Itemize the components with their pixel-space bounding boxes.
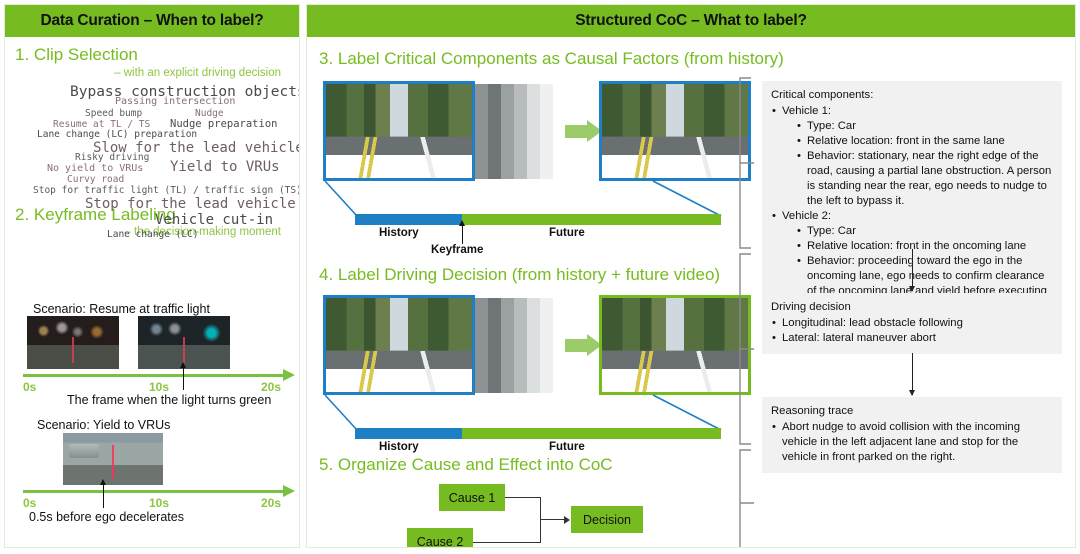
filmstrip-frame <box>475 298 488 393</box>
scenario-b-keyframe-marker <box>103 484 104 508</box>
filmstrip-frame <box>501 298 514 393</box>
scenario-b-thumbnail <box>63 433 163 485</box>
section-4-history-frame <box>323 295 475 395</box>
word-cloud-term-1: Passing intersection <box>115 97 235 107</box>
filmstrip-frame <box>501 84 514 179</box>
timeline-arrowhead-icon <box>283 485 295 497</box>
driving-decision-list: Longitudinal: lead obstacle followingLat… <box>771 316 1053 346</box>
word-cloud-term-15: Lane change (LC) <box>107 230 199 240</box>
section-3-video-row <box>323 81 751 181</box>
wire-cause2-h <box>473 542 541 543</box>
future-segment <box>462 428 721 439</box>
critical-component-subitem: Type: Car <box>796 224 1053 239</box>
scenario-a-timeline: 0s 10s 20s <box>23 369 295 395</box>
section-3-keyframe-marker <box>462 225 463 244</box>
scenario-a-thumbnail-1 <box>27 316 119 369</box>
section-4-history-label: History <box>379 441 419 453</box>
word-cloud-term-2: Speed bump <box>85 109 142 119</box>
section-3-future-label: Future <box>549 227 585 239</box>
scenario-a-tick-10: 10s <box>149 380 169 394</box>
right-panel-header: Structured CoC – What to label? <box>307 5 1075 37</box>
left-panel: Data Curation – When to label? 1. Clip S… <box>4 4 300 548</box>
word-cloud-term-4: Resume at TL / TS <box>53 120 150 130</box>
filmstrip-frame <box>488 298 501 393</box>
word-cloud-term-8: Risky driving <box>75 153 149 163</box>
section-3-future-frame <box>599 81 751 181</box>
section-3-title: 3. Label Critical Components as Causal F… <box>319 49 784 69</box>
critical-component-subitem: Behavior: stationary, near the right edg… <box>796 149 1053 209</box>
timeline-axis <box>23 490 283 493</box>
critical-component-item: Vehicle 1:Type: CarRelative location: fr… <box>771 104 1053 209</box>
filmstrip-frame <box>540 84 553 179</box>
word-cloud-term-3: Nudge <box>195 109 224 119</box>
word-cloud-term-13: Stop for the lead vehicle <box>85 197 296 211</box>
scenario-b-marker-caption: 0.5s before ego decelerates <box>29 510 184 524</box>
filmstrip-frame <box>540 298 553 393</box>
cause-2-node[interactable]: Cause 2 <box>407 528 473 548</box>
filmstrip-frame <box>527 298 540 393</box>
filmstrip-frame <box>514 84 527 179</box>
driving-decision-item: Lateral: lateral maneuver abort <box>771 331 1053 346</box>
critical-components-heading: Critical components: <box>771 88 1053 103</box>
section-3-keyframe-label: Keyframe <box>431 244 483 256</box>
word-cloud-term-14: Vehicle cut-in <box>155 213 273 227</box>
right-panel: Structured CoC – What to label? 3. Label… <box>306 4 1076 548</box>
reasoning-trace-heading: Reasoning trace <box>771 404 1053 419</box>
reasoning-trace-list: Abort nudge to avoid collision with the … <box>771 420 1053 465</box>
decision-node[interactable]: Decision <box>571 506 643 533</box>
section-1-heading: Clip Selection <box>34 45 138 64</box>
filmstrip-frame <box>527 84 540 179</box>
critical-component-sublist: Type: CarRelative location: front in the… <box>782 119 1053 209</box>
word-cloud-term-11: Curvy road <box>67 175 124 185</box>
section-3-history-label: History <box>379 227 419 239</box>
driving-decision-box: Driving decision Longitudinal: lead obst… <box>762 293 1062 354</box>
word-cloud-term-5: Nudge preparation <box>170 119 277 130</box>
filmstrip-frame <box>488 84 501 179</box>
section-1-title: 1. Clip Selection <box>15 45 289 65</box>
wire-cause1-h <box>505 497 541 498</box>
scenario-b-tick-0: 0s <box>23 496 36 510</box>
section-4-filmstrip <box>475 298 553 393</box>
section-4-flow-arrow-icon <box>553 295 599 395</box>
dashcam-image <box>602 298 748 392</box>
slide-root: Data Curation – When to label? 1. Clip S… <box>0 0 1080 554</box>
section-2-number: 2. <box>15 205 29 224</box>
dashcam-image <box>326 298 472 392</box>
critical-component-subitem: Relative location: front in the oncoming… <box>796 239 1053 254</box>
section-4-leader-lines <box>323 394 723 432</box>
history-segment <box>355 214 462 225</box>
bracket-section-3 <box>737 77 755 254</box>
section-4-timeline-bar <box>355 428 721 439</box>
clip-selection-word-cloud: Bypass construction objectsPassing inter… <box>15 85 289 203</box>
critical-component-label: Vehicle 2: <box>782 209 1053 224</box>
section-3-timeline-bar <box>355 214 721 225</box>
section-3-history-frame <box>323 81 475 181</box>
critical-component-subitem: Relative location: front in the same lan… <box>796 134 1053 149</box>
section-1-number: 1. <box>15 45 29 64</box>
section-5-title: 5. Organize Cause and Effect into CoC <box>319 455 613 475</box>
section-4-future-label: Future <box>549 441 585 453</box>
section-4-video-row <box>323 295 751 395</box>
timeline-arrowhead-icon <box>283 369 295 381</box>
scenario-a-tick-0: 0s <box>23 380 36 394</box>
word-cloud-term-10: Yield to VRUs <box>170 160 280 174</box>
scenario-a-marker-caption: The frame when the light turns green <box>67 393 271 407</box>
wire-to-decision <box>540 519 565 520</box>
scenario-a-keyframe-marker <box>183 367 184 390</box>
section-4-title: 4. Label Driving Decision (from history … <box>319 265 720 285</box>
wire-arrowhead-icon <box>564 516 570 524</box>
trajectory-overlay <box>72 337 74 363</box>
timeline-axis <box>23 374 283 377</box>
left-panel-header: Data Curation – When to label? <box>5 5 299 37</box>
scenario-a-tick-20: 20s <box>261 380 281 394</box>
reasoning-trace-box: Reasoning trace Abort nudge to avoid col… <box>762 397 1062 473</box>
section-3-filmstrip <box>475 84 553 179</box>
connector-decision-to-trace <box>912 353 913 395</box>
scenario-b-timeline: 0s 10s 20s <box>23 485 295 511</box>
critical-component-label: Vehicle 1: <box>782 104 1053 119</box>
driving-decision-heading: Driving decision <box>771 300 1053 315</box>
section-1: 1. Clip Selection – with an explicit dri… <box>5 37 299 203</box>
future-segment <box>462 214 721 225</box>
scenario-b-tick-20: 20s <box>261 496 281 510</box>
filmstrip-frame <box>514 298 527 393</box>
history-segment <box>355 428 462 439</box>
driving-decision-item: Longitudinal: lead obstacle following <box>771 316 1053 331</box>
trajectory-overlay <box>183 337 185 363</box>
section-1-subtitle: – with an explicit driving decision <box>15 67 289 79</box>
cause-1-node[interactable]: Cause 1 <box>439 484 505 511</box>
word-cloud-term-6: Lane change (LC) preparation <box>37 130 197 140</box>
bracket-section-5 <box>737 449 755 548</box>
section-3-leader-lines <box>323 180 723 218</box>
trajectory-overlay <box>112 445 114 479</box>
scenario-a-label: Scenario: Resume at traffic light <box>33 302 210 316</box>
dashcam-image <box>602 84 748 178</box>
dashcam-image <box>326 84 472 178</box>
scenario-b-label: Scenario: Yield to VRUs <box>37 418 170 432</box>
critical-component-subitem: Type: Car <box>796 119 1053 134</box>
word-cloud-term-9: No yield to VRUs <box>47 164 143 174</box>
word-cloud-term-12: Stop for traffic light (TL) / traffic si… <box>33 186 300 196</box>
bracket-section-4 <box>737 253 755 450</box>
right-panel-body: 3. Label Critical Components as Causal F… <box>307 37 1075 546</box>
filmstrip-frame <box>475 84 488 179</box>
reasoning-trace-item: Abort nudge to avoid collision with the … <box>771 420 1053 465</box>
connector-cc-to-decision <box>912 249 913 291</box>
section-4-future-frame <box>599 295 751 395</box>
scenario-b-tick-10: 10s <box>149 496 169 510</box>
section-3-flow-arrow-icon <box>553 81 599 181</box>
